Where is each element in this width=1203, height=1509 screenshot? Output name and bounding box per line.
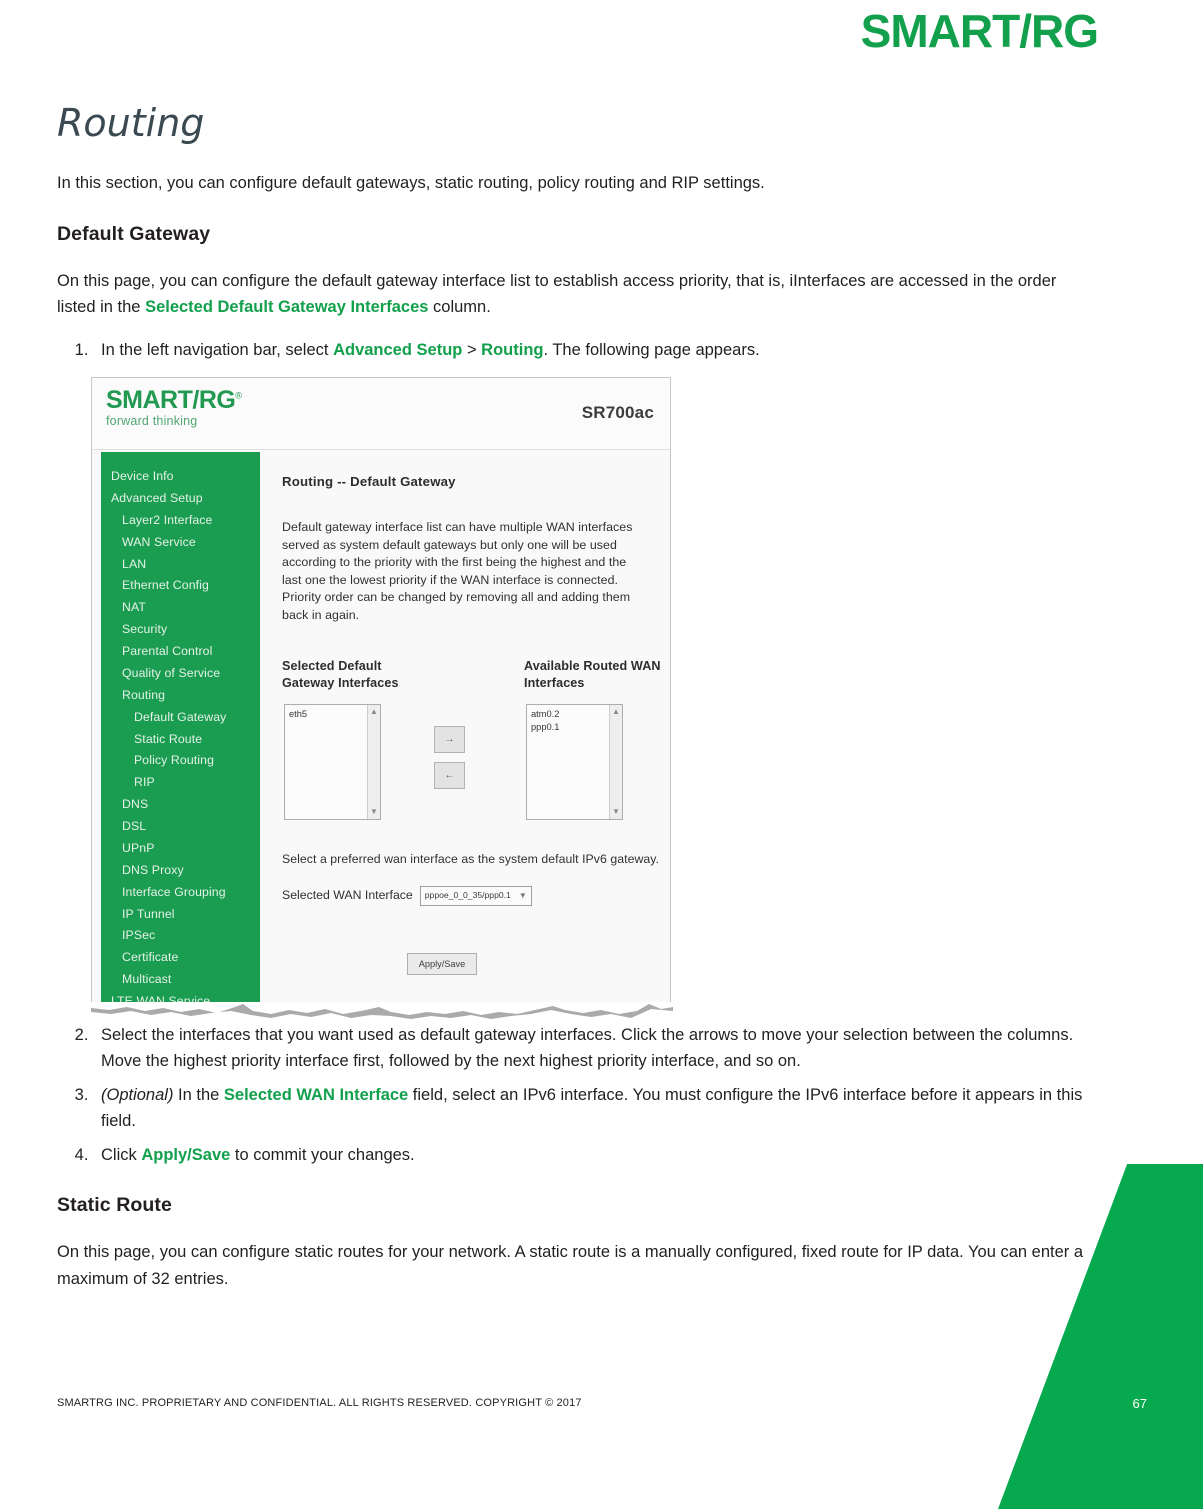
smartrg-logo: SMART/RG [861, 8, 1098, 54]
step3-pre: In the [173, 1086, 223, 1104]
step4-post: to commit your changes. [230, 1146, 414, 1164]
router-nav-item[interactable]: NAT [101, 597, 260, 619]
router-nav-item[interactable]: UPnP [101, 838, 260, 860]
listbox-option[interactable]: eth5 [289, 708, 376, 721]
listbox-option[interactable]: atm0.2 [531, 708, 618, 721]
move-left-button[interactable]: ← [434, 762, 465, 789]
router-panel-title: Routing -- Default Gateway [282, 472, 662, 493]
router-nav-item[interactable]: Policy Routing [101, 750, 260, 772]
step1-post: . The following page appears. [543, 341, 759, 359]
router-nav-item[interactable]: DSL [101, 816, 260, 838]
transfer-arrow-buttons: → ← [434, 726, 465, 798]
document-page: SMART/RG Routing In this section, you ca… [0, 0, 1203, 1509]
router-nav-item[interactable]: Device Info [101, 466, 260, 488]
step1-link-routing: Routing [481, 341, 543, 359]
interface-transfer-widget: eth5 ▲ ▼ → ← [282, 704, 662, 824]
scroll-up-icon[interactable]: ▲ [370, 708, 378, 716]
router-nav-item[interactable]: Certificate [101, 947, 260, 969]
step1-link-advanced-setup: Advanced Setup [333, 341, 462, 359]
router-nav-item[interactable]: Interface Grouping [101, 882, 260, 904]
default-gateway-paragraph: On this page, you can configure the defa… [57, 268, 1097, 321]
step4-pre: Click [101, 1146, 141, 1164]
router-logo: SMART/RG® forward thinking [106, 388, 241, 428]
listbox-option[interactable]: ppp0.1 [531, 721, 618, 734]
apply-save-button[interactable]: Apply/Save [407, 953, 477, 976]
router-sidebar-nav[interactable]: Device InfoAdvanced SetupLayer2 Interfac… [101, 452, 260, 1002]
router-nav-item[interactable]: Layer2 Interface [101, 510, 260, 532]
step-1: In the left navigation bar, select Advan… [93, 337, 1097, 1022]
static-route-paragraph: On this page, you can configure static r… [57, 1239, 1097, 1292]
heading-selected-default-gateway-interfaces: Selected DefaultGateway Interfaces [282, 658, 399, 693]
available-interfaces-listbox[interactable]: atm0.2ppp0.1 ▲ ▼ [526, 704, 623, 820]
step1-mid: > [462, 341, 481, 359]
selected-wan-interface-value: pppoe_0_0_35/ppp0.1 [425, 889, 511, 903]
scroll-down-icon[interactable]: ▼ [612, 808, 620, 816]
step3-optional-label: (Optional) [101, 1086, 173, 1104]
ipv6-gateway-note: Select a preferred wan interface as the … [282, 850, 662, 869]
router-nav-item[interactable]: WAN Service [101, 532, 260, 554]
step3-link-selected-wan-interface: Selected WAN Interface [224, 1086, 408, 1104]
router-header: SMART/RG® forward thinking SR700ac [92, 378, 670, 450]
router-nav-item[interactable]: IP Tunnel [101, 904, 260, 926]
torn-edge-decoration [91, 1001, 673, 1023]
registered-icon: ® [235, 391, 241, 401]
dg-para-part2: column. [428, 298, 490, 316]
router-content-panel: Routing -- Default Gateway Default gatew… [282, 450, 662, 975]
dg-para-link: Selected Default Gateway Interfaces [145, 298, 428, 316]
transfer-column-headings: Selected DefaultGateway Interfaces Avail… [282, 658, 662, 700]
selected-interfaces-listbox[interactable]: eth5 ▲ ▼ [284, 704, 381, 820]
listbox-scrollbar-left[interactable]: ▲ ▼ [367, 705, 380, 819]
listbox-scrollbar-right[interactable]: ▲ ▼ [609, 705, 622, 819]
step1-pre: In the left navigation bar, select [101, 341, 333, 359]
document-content: Routing In this section, you can configu… [57, 104, 1097, 1309]
router-nav-item[interactable]: Routing [101, 685, 260, 707]
selected-wan-interface-row: Selected WAN Interface pppoe_0_0_35/ppp0… [282, 886, 662, 906]
move-right-button[interactable]: → [434, 726, 465, 753]
router-ui-figure: SMART/RG® forward thinking SR700ac Devic… [91, 377, 676, 1022]
page-number: 67 [1133, 1396, 1147, 1411]
step-4: Click Apply/Save to commit your changes. [93, 1142, 1097, 1168]
selected-wan-interface-label: Selected WAN Interface [282, 886, 413, 905]
section-heading-static-route: Static Route [57, 1194, 1097, 1217]
selected-wan-interface-select[interactable]: pppoe_0_0_35/ppp0.1 ▼ [420, 886, 532, 906]
router-nav-item[interactable]: Security [101, 619, 260, 641]
router-nav-item[interactable]: RIP [101, 772, 260, 794]
step4-link-apply-save: Apply/Save [141, 1146, 230, 1164]
router-nav-item[interactable]: Quality of Service [101, 663, 260, 685]
router-nav-item[interactable]: IPSec [101, 925, 260, 947]
router-panel-description: Default gateway interface list can have … [282, 519, 637, 625]
step-3: (Optional) In the Selected WAN Interface… [93, 1082, 1097, 1134]
page-title: Routing [57, 104, 1097, 144]
router-nav-item[interactable]: Parental Control [101, 641, 260, 663]
apply-save-row: Apply/Save [282, 949, 662, 976]
router-nav-item[interactable]: LAN [101, 554, 260, 576]
router-body: Device InfoAdvanced SetupLayer2 Interfac… [92, 450, 670, 1002]
scroll-down-icon[interactable]: ▼ [370, 808, 378, 816]
footer-copyright: SMARTRG INC. PROPRIETARY AND CONFIDENTIA… [57, 1397, 582, 1409]
procedure-steps: In the left navigation bar, select Advan… [57, 337, 1097, 1168]
scroll-up-icon[interactable]: ▲ [612, 708, 620, 716]
router-nav-item[interactable]: Default Gateway [101, 707, 260, 729]
router-nav-item[interactable]: DNS [101, 794, 260, 816]
section-heading-default-gateway: Default Gateway [57, 223, 1097, 246]
chevron-down-icon: ▼ [519, 890, 527, 903]
router-nav-item[interactable]: Advanced Setup [101, 488, 260, 510]
step-2: Select the interfaces that you want used… [93, 1022, 1097, 1074]
router-model-label: SR700ac [582, 400, 654, 427]
heading-available-routed-wan-interfaces: Available Routed WANInterfaces [524, 658, 661, 693]
router-nav-item[interactable]: Multicast [101, 969, 260, 991]
router-nav-item[interactable]: DNS Proxy [101, 860, 260, 882]
router-ui-screenshot: SMART/RG® forward thinking SR700ac Devic… [91, 377, 671, 1002]
router-nav-item[interactable]: Ethernet Config [101, 575, 260, 597]
router-logo-tagline: forward thinking [106, 415, 241, 428]
intro-paragraph: In this section, you can configure defau… [57, 170, 1097, 197]
router-nav-item[interactable]: Static Route [101, 729, 260, 751]
router-logo-text: SMART/RG [106, 386, 235, 414]
